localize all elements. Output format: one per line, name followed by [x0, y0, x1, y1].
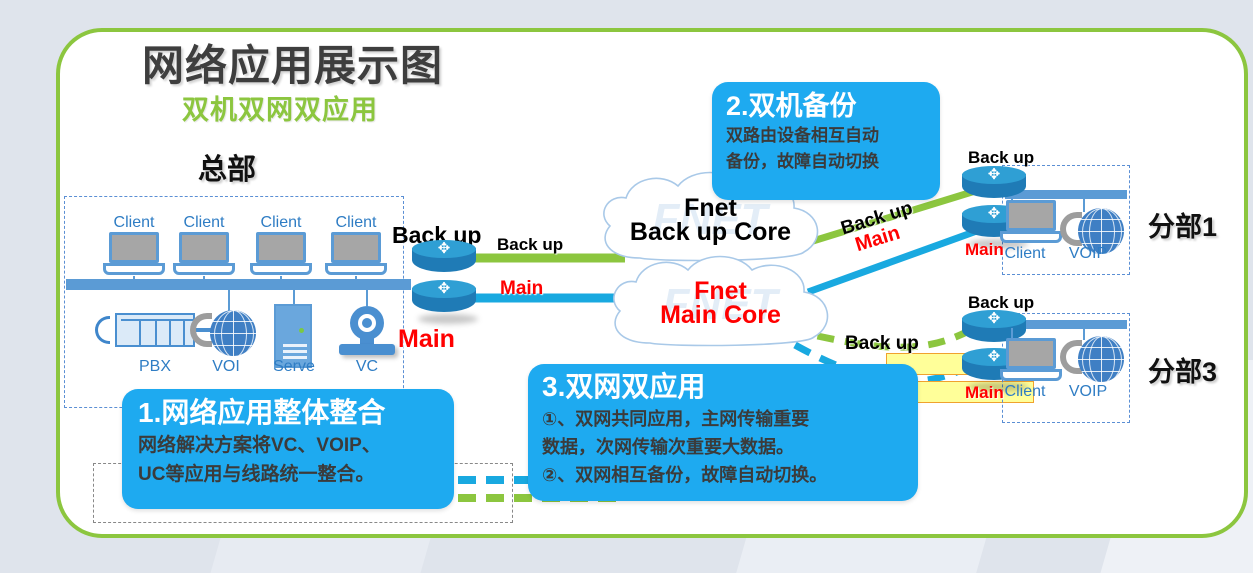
callout-3-title: 3.双网双应用	[542, 368, 904, 405]
hq-device-vc[interactable]	[338, 306, 396, 356]
callout-3-body-line-1: ①、双网共同应用，主网传输重要	[542, 405, 904, 433]
hq-client-4-label: Client	[325, 214, 387, 231]
callout-3[interactable]: 3.双网双应用 ①、双网共同应用，主网传输重要 数据，次网传输次重要大数据。 ②…	[528, 364, 918, 501]
callout-2-body-line-1: 双路由设备相互自动	[726, 123, 926, 149]
hq-client-1-label: Client	[103, 214, 165, 231]
cloud-main-core-line2: Main Core	[598, 303, 843, 328]
laptop-icon	[179, 232, 229, 263]
cloud-backup-core-line2: Back up Core	[588, 220, 833, 245]
hq-client-2-label: Client	[173, 214, 235, 231]
page-subtitle: 双机双网双应用	[182, 88, 378, 127]
hq-device-server-label: Serve	[258, 358, 330, 376]
hq-router-backup[interactable]: ✥	[412, 240, 476, 280]
voip-globe-icon	[1078, 336, 1124, 382]
link-label-main-core: Main	[500, 278, 543, 300]
link-label-backup-core: Back up	[497, 235, 563, 255]
laptop-base	[325, 263, 387, 275]
branch-3-name: 分部3	[1148, 350, 1217, 389]
callout-3-body-line-3: ②、双网相互备份，故障自动切换。	[542, 461, 904, 489]
router-arrows-icon: ✥	[426, 281, 462, 297]
laptop-base	[250, 263, 312, 275]
laptop-base	[103, 263, 165, 275]
voip-globe-icon	[210, 310, 256, 356]
laptop-base	[1000, 369, 1062, 381]
hq-stub	[280, 276, 282, 284]
branch-1-router-backup-label: Back up	[968, 148, 1034, 168]
hq-device-voip[interactable]	[190, 308, 262, 356]
hq-stub	[355, 276, 357, 284]
laptop-base	[173, 263, 235, 275]
voip-handset-icon	[190, 313, 212, 347]
laptop-base	[1000, 231, 1062, 243]
server-status-led	[299, 328, 304, 333]
hq-stub	[366, 290, 368, 306]
laptop-icon	[1006, 200, 1056, 231]
hq-client-1[interactable]: Client	[103, 232, 165, 276]
hq-device-pbx-label: PBX	[110, 358, 200, 376]
link-label-branch3-backup: Back up	[845, 333, 919, 355]
branch-3-client[interactable]	[1000, 338, 1062, 382]
callout-1[interactable]: 1.网络应用整体整合 网络解决方案将VC、VOIP、 UC等应用与线路统一整合。	[122, 389, 454, 509]
laptop-icon	[1006, 338, 1056, 369]
hq-router-main[interactable]: ✥	[412, 280, 476, 320]
callout-1-body-line-1: 网络解决方案将VC、VOIP、	[138, 431, 438, 460]
hq-stub	[203, 276, 205, 284]
headquarters-title: 总部	[198, 146, 256, 188]
router-shadow	[418, 314, 478, 324]
branch-3-voip[interactable]	[1060, 336, 1126, 382]
hq-client-3-label: Client	[250, 214, 312, 231]
pbx-icon	[115, 313, 195, 347]
cloud-main-core: FNET Fnet Main Core	[598, 253, 843, 361]
hq-client-2[interactable]: Client	[173, 232, 235, 276]
laptop-icon	[109, 232, 159, 263]
hq-device-vc-label: VC	[338, 358, 396, 376]
branch-3-router-main-label: Main	[965, 383, 1004, 403]
branch-1-voip-label: VOIP	[1068, 245, 1108, 262]
camera-base	[339, 344, 395, 355]
laptop-icon	[256, 232, 306, 263]
diagram-canvas: 网络应用展示图 双机双网双应用 总部 Client Client Client	[0, 0, 1253, 573]
pbx-handset-icon	[95, 316, 110, 344]
hq-stub	[133, 276, 135, 284]
callout-1-title: 1.网络应用整体整合	[138, 395, 438, 431]
branch-3-client-label: Client	[1000, 383, 1050, 400]
callout-2-body-line-2: 备份，故障自动切换	[726, 149, 926, 175]
hq-client-3[interactable]: Client	[250, 232, 312, 276]
diagram-frame-clip: 网络应用展示图 双机双网双应用 总部 Client Client Client	[56, 28, 1248, 538]
branch-1-client[interactable]	[1000, 200, 1062, 244]
branch-3-voip-label: VOIP	[1068, 383, 1108, 400]
router-arrows-icon: ✥	[426, 241, 462, 257]
router-arrows-icon: ✥	[976, 167, 1012, 183]
callout-3-body-line-2: 数据，次网传输次重要大数据。	[542, 433, 904, 461]
hq-client-4[interactable]: Client	[325, 232, 387, 276]
laptop-icon	[331, 232, 381, 263]
page-title: 网络应用展示图	[142, 32, 443, 93]
branch-1-name: 分部1	[1148, 205, 1217, 244]
hq-device-voip-label: VOI	[190, 358, 262, 376]
callout-2[interactable]: 2.双机备份 双路由设备相互自动 备份，故障自动切换	[712, 82, 940, 200]
callout-1-body-line-2: UC等应用与线路统一整合。	[138, 460, 438, 489]
callout-2-title: 2.双机备份	[726, 90, 926, 123]
router-arrows-icon: ✥	[976, 311, 1012, 327]
branch-1-router-main-label: Main	[965, 240, 1004, 260]
headquarters-bus	[66, 279, 411, 290]
hq-router-main-label: Main	[398, 325, 455, 354]
hq-stub	[293, 290, 295, 304]
branch-1-client-label: Client	[1000, 245, 1050, 262]
